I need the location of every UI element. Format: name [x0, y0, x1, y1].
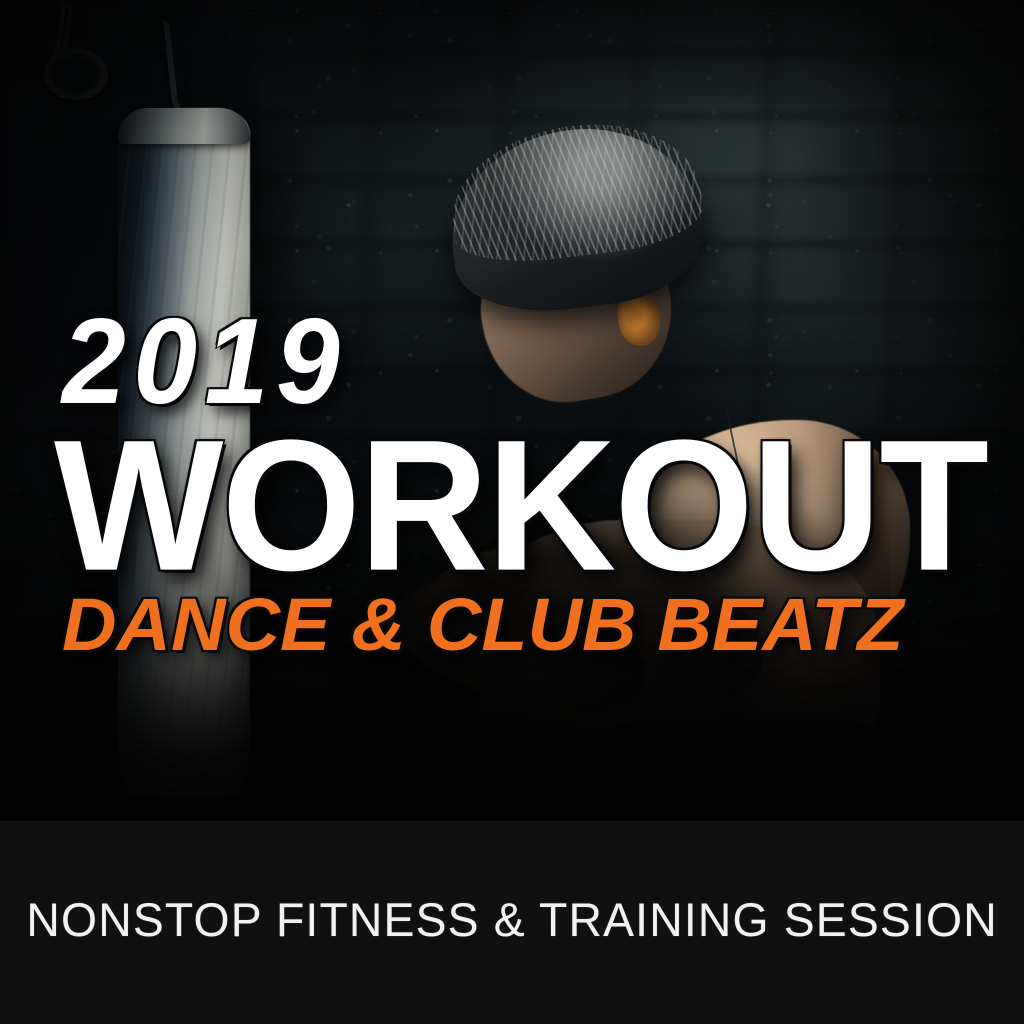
album-cover: 2019 WORKOUT DANCE & CLUB BEATZ NONSTOP … [0, 0, 1024, 1024]
tagline-text: NONSTOP FITNESS & TRAINING SESSION [26, 896, 997, 943]
title-typography: 2019 WORKOUT DANCE & CLUB BEATZ [0, 0, 1024, 821]
subtitle: DANCE & CLUB BEATZ [62, 588, 903, 662]
bottom-banner: NONSTOP FITNESS & TRAINING SESSION [0, 821, 1024, 1024]
main-title: WORKOUT [54, 413, 987, 600]
cover-photograph: 2019 WORKOUT DANCE & CLUB BEATZ [0, 0, 1024, 821]
